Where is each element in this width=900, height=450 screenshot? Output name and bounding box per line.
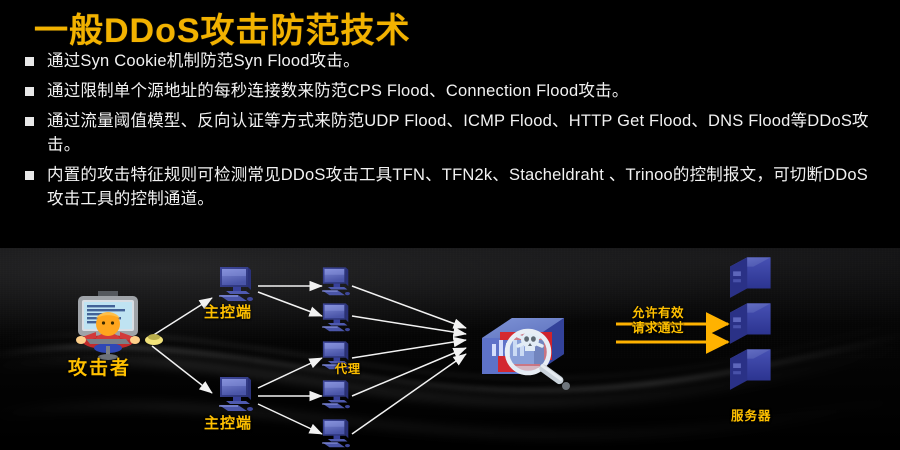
master-controller-top-icon xyxy=(219,267,253,301)
agent-icon-5 xyxy=(322,419,350,447)
master-controller-bottom-icon xyxy=(219,377,253,411)
label-server: 服务器 xyxy=(731,405,772,424)
attacker-icon xyxy=(76,291,163,360)
agent-icon-1 xyxy=(322,267,350,295)
bullet-text: 内置的攻击特征规则可检测常见DDoS攻击工具TFN、TFN2k、Stacheld… xyxy=(47,163,884,211)
list-item: 通过流量阈值模型、反向认证等方式来防范UDP Flood、ICMP Flood、… xyxy=(22,109,884,157)
bullet-text: 通过流量阈值模型、反向认证等方式来防范UDP Flood、ICMP Flood、… xyxy=(47,109,884,157)
label-attacker: 攻击者 xyxy=(68,353,131,380)
firewall-detection-icon xyxy=(482,318,570,390)
label-allow-line2: 请求通过 xyxy=(632,321,684,336)
label-agent: 代理 xyxy=(335,360,361,377)
slide-canvas: 一般DDoS攻击防范技术 通过Syn Cookie机制防范Syn Flood攻击… xyxy=(0,0,900,450)
ddos-attack-diagram: 攻击者 主控端 主控端 代理 允许有效 请求通过 服务器 xyxy=(0,248,900,450)
label-master-controller-bottom: 主控端 xyxy=(204,412,252,433)
bullet-list: 通过Syn Cookie机制防范Syn Flood攻击。 通过限制单个源地址的每… xyxy=(22,49,884,217)
attack-flow-arrows xyxy=(152,286,466,434)
bullet-text: 通过限制单个源地址的每秒连接数来防范CPS Flood、Connection F… xyxy=(47,79,884,103)
square-bullet-icon xyxy=(25,171,34,180)
agent-icon-4 xyxy=(322,380,350,408)
square-bullet-icon xyxy=(25,57,34,66)
page-title: 一般DDoS攻击防范技术 xyxy=(34,3,411,52)
list-item: 通过限制单个源地址的每秒连接数来防范CPS Flood、Connection F… xyxy=(22,79,884,103)
label-master-controller-top: 主控端 xyxy=(204,301,252,322)
server-icon-1 xyxy=(730,257,771,298)
server-icon-3 xyxy=(730,349,771,390)
label-allow-valid-requests: 允许有效 请求通过 xyxy=(632,306,684,336)
list-item: 内置的攻击特征规则可检测常见DDoS攻击工具TFN、TFN2k、Stacheld… xyxy=(22,163,884,211)
server-icon-2 xyxy=(730,303,771,344)
agent-icon-2 xyxy=(322,303,350,331)
label-allow-line1: 允许有效 xyxy=(632,306,684,321)
square-bullet-icon xyxy=(25,117,34,126)
square-bullet-icon xyxy=(25,87,34,96)
bullet-text: 通过Syn Cookie机制防范Syn Flood攻击。 xyxy=(47,49,884,73)
list-item: 通过Syn Cookie机制防范Syn Flood攻击。 xyxy=(22,49,884,73)
